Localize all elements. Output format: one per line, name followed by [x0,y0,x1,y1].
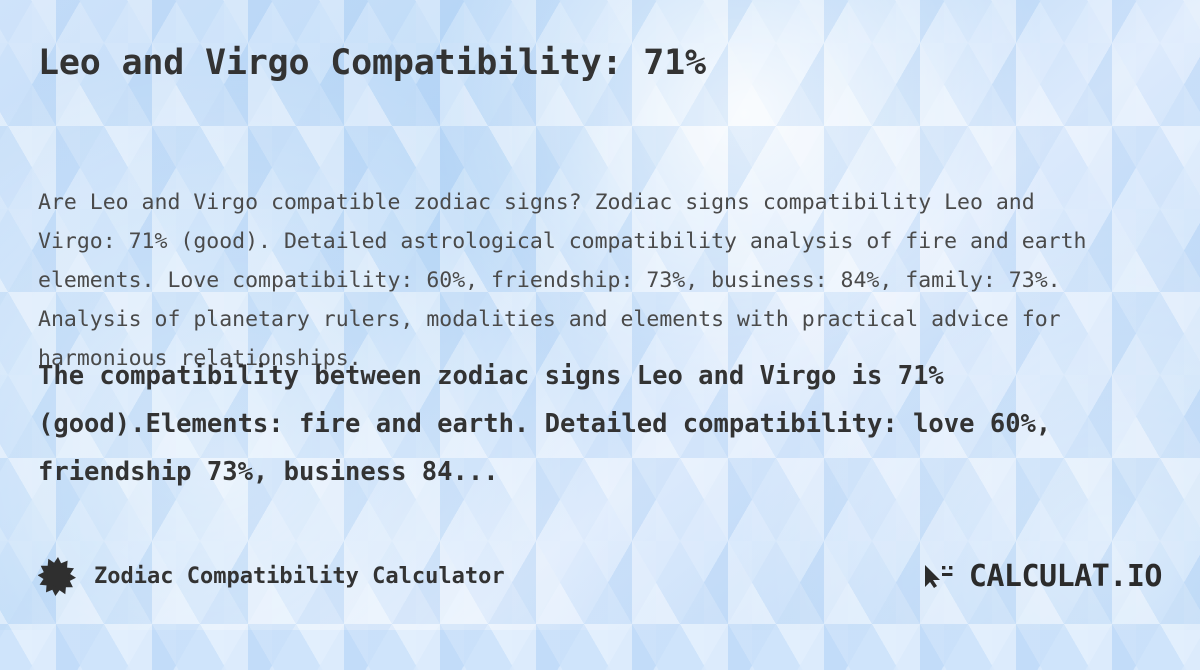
footer-label: Zodiac Compatibility Calculator [94,564,505,589]
brand-text: CALCULAT.IO [969,559,1162,594]
summary-headline: The compatibility between zodiac signs L… [38,352,1108,496]
page-content: Leo and Virgo Compatibility: 71% [0,0,1200,86]
star-burst-icon [38,556,78,596]
calculatio-logo-icon [923,561,959,591]
footer-left-group: Zodiac Compatibility Calculator [38,556,505,596]
brand-logo[interactable]: CALCULAT.IO [923,559,1162,594]
footer-bar: Zodiac Compatibility Calculator CALCULAT… [0,554,1200,598]
page-title: Leo and Virgo Compatibility: 71% [38,0,1162,86]
meta-description-text: Are Leo and Virgo compatible zodiac sign… [38,183,1098,378]
